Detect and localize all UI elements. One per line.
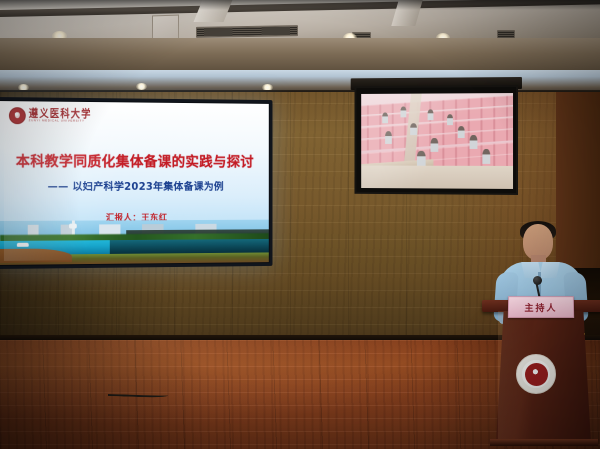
ceiling: [0, 0, 600, 40]
nameplate-label: 主持人: [524, 301, 557, 314]
university-logo: 遵义医科大学 ZUNYI MEDICAL UNIVERSITY: [9, 107, 92, 125]
air-vent-icon: [196, 25, 298, 38]
slide-subtitle: —— 以妇产科学2023年集体备课为例: [0, 178, 269, 193]
downlight-icon: [136, 83, 147, 90]
audience-camera-feed: [361, 93, 513, 189]
microphone-icon: [533, 276, 542, 285]
campus-panorama-photo: [0, 220, 269, 265]
projection-glare: [361, 93, 513, 189]
host-nameplate: 主持人: [508, 296, 574, 318]
logo-wordmark: 遵义医科大学 ZUNYI MEDICAL UNIVERSITY: [29, 109, 92, 123]
university-emblem-icon: [516, 354, 556, 394]
main-led-screen[interactable]: 遵义医科大学 ZUNYI MEDICAL UNIVERSITY 本科教学同质化集…: [0, 97, 273, 269]
panorama-shore-left: [0, 248, 72, 263]
lectern-base: [490, 439, 598, 446]
panorama-boat: [17, 243, 29, 247]
shirt-collar-right: [539, 262, 559, 278]
secondary-projection-screen[interactable]: [355, 85, 518, 195]
slide-title: 本科教学同质化集体备课的实践与探讨: [0, 151, 269, 171]
logo-chinese-name: 遵义医科大学: [29, 108, 92, 119]
lecture-hall-photo: 遵义医科大学 ZUNYI MEDICAL UNIVERSITY 本科教学同质化集…: [0, 0, 600, 449]
lectern: [484, 300, 600, 449]
university-seal-icon: [9, 107, 26, 124]
presentation-slide: 遵义医科大学 ZUNYI MEDICAL UNIVERSITY 本科教学同质化集…: [0, 101, 269, 265]
ceiling-soffit: [0, 38, 600, 72]
